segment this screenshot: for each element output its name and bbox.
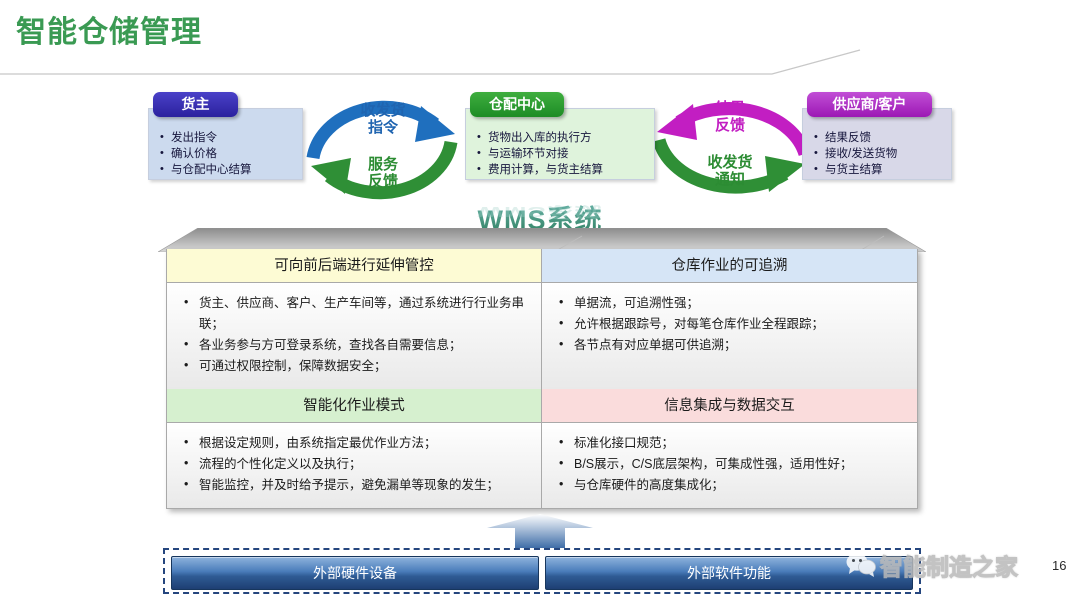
list-item: 单据流，可追溯性强； — [556, 293, 911, 314]
flow-box-center: 仓配中心 货物出入库的执行方 与运输环节对接 费用计算，与货主结算 — [465, 92, 655, 180]
cycle-left-top-label-l1: 收发货 — [325, 102, 441, 119]
list-item: 与运输环节对接 — [475, 146, 603, 162]
title-divider-line — [0, 48, 1080, 82]
cycle-left-top-label-l2: 指令 — [325, 119, 441, 136]
matrix-body-smart-operation: 根据设定规则，由系统指定最优作业方法； 流程的个性化定义以及执行； 智能监控，并… — [167, 423, 542, 508]
list-item: 接收/发送货物 — [812, 146, 897, 162]
matrix-header-row-1: 可向前后端进行延伸管控 仓库作业的可追溯 — [167, 249, 917, 283]
watermark-text: 智能制造之家 — [880, 548, 1018, 582]
matrix-list: 货主、供应商、客户、生产车间等，通过系统进行行业务串联； 各业务参与方可登录系统… — [181, 293, 535, 377]
cycle-left-bottom-label: 服务 反馈 — [325, 156, 441, 190]
list-item: 发出指令 — [158, 130, 252, 146]
matrix-body-row-2: 根据设定规则，由系统指定最优作业方法； 流程的个性化定义以及执行； 智能监控，并… — [167, 423, 917, 508]
matrix-header-integration: 信息集成与数据交互 — [542, 389, 917, 423]
flow-box-center-list: 货物出入库的执行方 与运输环节对接 费用计算，与货主结算 — [475, 130, 603, 178]
cycle-right-top-label-l1: 结果 — [669, 100, 791, 117]
list-item: 根据设定规则，由系统指定最优作业方法； — [181, 433, 535, 454]
flow-box-supplier: 供应商/客户 结果反馈 接收/发送货物 与货主结算 — [802, 92, 952, 180]
list-item: 与仓库硬件的高度集成化； — [556, 475, 911, 496]
cycle-left: 收发货 指令 服务 反馈 — [303, 84, 463, 212]
list-item: B/S展示，C/S底层架构，可集成性强，适用性好； — [556, 454, 911, 475]
matrix-header-traceability: 仓库作业的可追溯 — [542, 249, 917, 283]
cycle-right: 结果 反馈 收发货 通知 — [645, 84, 817, 212]
cycle-right-bottom-label: 收发货 通知 — [669, 154, 791, 188]
wechat-icon — [846, 552, 876, 578]
matrix-list: 标准化接口规范； B/S展示，C/S底层架构，可集成性强，适用性好； 与仓库硬件… — [556, 433, 911, 496]
flow-box-supplier-caption: 供应商/客户 — [807, 92, 932, 117]
flow-box-owner-caption: 货主 — [153, 92, 238, 117]
list-item: 货主、供应商、客户、生产车间等，通过系统进行行业务串联； — [181, 293, 535, 335]
list-item: 与仓配中心结算 — [158, 162, 252, 178]
matrix-body-extension-control: 货主、供应商、客户、生产车间等，通过系统进行行业务串联； 各业务参与方可登录系统… — [167, 283, 542, 389]
matrix-header-row-2: 智能化作业模式 信息集成与数据交互 — [167, 389, 917, 423]
matrix-list: 根据设定规则，由系统指定最优作业方法； 流程的个性化定义以及执行； 智能监控，并… — [181, 433, 535, 496]
cycle-right-bottom-label-l1: 收发货 — [669, 154, 791, 171]
page-title: 智能仓储管理 — [16, 18, 202, 48]
system-title-reflection: WMS系统 — [0, 203, 1080, 224]
matrix-body-traceability: 单据流，可追溯性强； 允许根据跟踪号，对每笔仓库作业全程跟踪； 各节点有对应单据… — [542, 283, 917, 389]
page-number: 16 — [1052, 558, 1066, 573]
list-item: 允许根据跟踪号，对每笔仓库作业全程跟踪； — [556, 314, 911, 335]
up-arrow-icon — [487, 514, 593, 548]
list-item: 与货主结算 — [812, 162, 897, 178]
flow-box-owner: 货主 发出指令 确认价格 与仓配中心结算 — [148, 92, 303, 180]
list-item: 流程的个性化定义以及执行； — [181, 454, 535, 475]
cycle-left-bottom-label-l2: 反馈 — [325, 173, 441, 190]
watermark: 智能制造之家 — [846, 548, 1018, 582]
list-item: 智能监控，并及时给予提示，避免漏单等现象的发生； — [181, 475, 535, 496]
flow-box-supplier-list: 结果反馈 接收/发送货物 与货主结算 — [812, 130, 897, 178]
cycle-right-top-label-l2: 反馈 — [669, 117, 791, 134]
feature-matrix: 可向前后端进行延伸管控 仓库作业的可追溯 货主、供应商、客户、生产车间等，通过系… — [166, 249, 918, 509]
cycle-right-bottom-label-l2: 通知 — [669, 171, 791, 188]
slide-root: 智能仓储管理 收发货 指令 服务 反馈 — [0, 0, 1080, 608]
list-item: 确认价格 — [158, 146, 252, 162]
matrix-body-row-1: 货主、供应商、客户、生产车间等，通过系统进行行业务串联； 各业务参与方可登录系统… — [167, 283, 917, 389]
cycle-left-top-label: 收发货 指令 — [325, 102, 441, 136]
list-item: 各业务参与方可登录系统，查找各自需要信息； — [181, 335, 535, 356]
matrix-list: 单据流，可追溯性强； 允许根据跟踪号，对每笔仓库作业全程跟踪； 各节点有对应单据… — [556, 293, 911, 356]
list-item: 标准化接口规范； — [556, 433, 911, 454]
flow-box-owner-list: 发出指令 确认价格 与仓配中心结算 — [158, 130, 252, 178]
list-item: 费用计算，与货主结算 — [475, 162, 603, 178]
list-item: 结果反馈 — [812, 130, 897, 146]
list-item: 可通过权限控制，保障数据安全； — [181, 356, 535, 377]
list-item: 各节点有对应单据可供追溯； — [556, 335, 911, 356]
matrix-header-extension-control: 可向前后端进行延伸管控 — [167, 249, 542, 283]
matrix-header-smart-operation: 智能化作业模式 — [167, 389, 542, 423]
external-hardware-button[interactable]: 外部硬件设备 — [171, 556, 539, 590]
external-modules-group: 外部硬件设备 外部软件功能 — [163, 548, 921, 594]
flow-box-center-caption: 仓配中心 — [470, 92, 564, 117]
cycle-right-top-label: 结果 反馈 — [669, 100, 791, 134]
cycle-left-bottom-label-l1: 服务 — [325, 156, 441, 173]
matrix-body-integration: 标准化接口规范； B/S展示，C/S底层架构，可集成性强，适用性好； 与仓库硬件… — [542, 423, 917, 508]
list-item: 货物出入库的执行方 — [475, 130, 603, 146]
